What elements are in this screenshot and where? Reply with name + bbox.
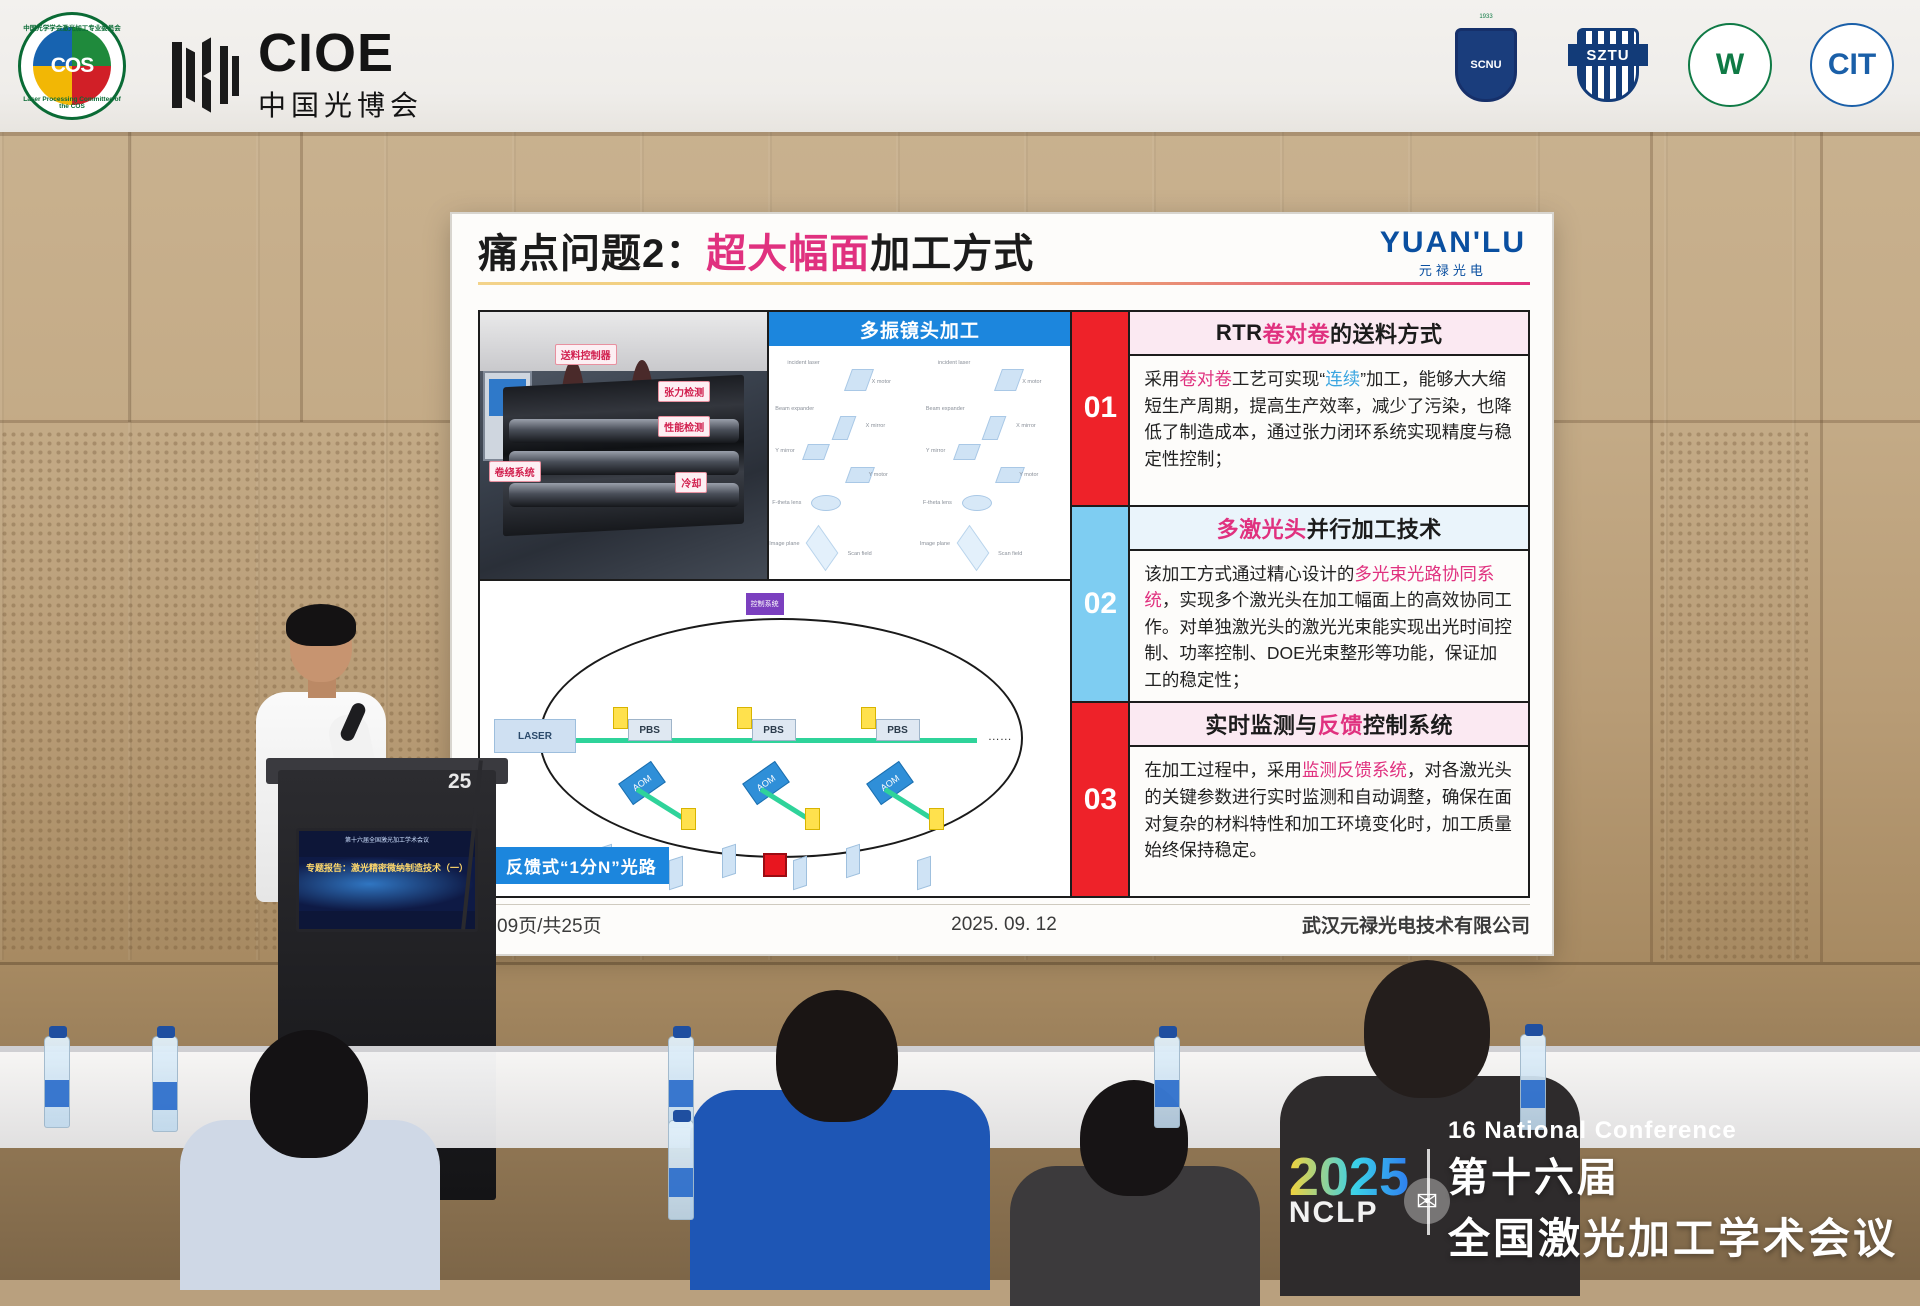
audience-member bbox=[690, 990, 990, 1280]
section-heading-03-highlight: 反馈 bbox=[1318, 708, 1363, 740]
photo-machine-top bbox=[480, 312, 767, 371]
bottle-cap bbox=[1159, 1026, 1177, 1038]
diagram-cube bbox=[831, 416, 856, 440]
diagram-label: Image plane bbox=[769, 541, 799, 547]
cos-ring-top-text: 中国光学学会激光加工专业委员会 bbox=[18, 22, 126, 32]
branch-waveplate bbox=[929, 808, 944, 830]
wall-seam bbox=[0, 132, 1920, 136]
watermark-year: 2025 bbox=[1289, 1153, 1409, 1203]
slide-title: 痛点问题2：超大幅面加工方式 bbox=[478, 232, 1530, 276]
logo-cit-short: CIT bbox=[1828, 48, 1876, 82]
waveplate-2 bbox=[737, 707, 752, 729]
cos-logo-text: COS bbox=[51, 54, 94, 78]
watermark-cn-line2: 全国激光加工学术会议 bbox=[1448, 1205, 1898, 1266]
photo-tag-cooling: 冷却 bbox=[675, 472, 707, 493]
slide-company: 武汉元禄光电技术有限公司 bbox=[1183, 911, 1530, 938]
section-heading-01: RTR卷对卷的送料方式 bbox=[1130, 312, 1528, 356]
section-heading-03: 实时监测与反馈控制系统 bbox=[1130, 703, 1528, 747]
logo-gim-glyph: W bbox=[1716, 48, 1744, 82]
section-text-02: 该加工方式通过精心设计的多光束光路协同系统，实现多个激光头在加工幅面上的高效协同… bbox=[1130, 551, 1528, 702]
watermark-logo-block: 2025 NCLP bbox=[1289, 1153, 1409, 1231]
machine-photo: 送料控制器 张力检测 性能检测 卷绕系统 冷却 bbox=[480, 312, 769, 579]
water-bottle bbox=[44, 1036, 70, 1128]
yuanlu-brand-cn: 元禄光电 bbox=[1380, 260, 1526, 279]
diagram-label: Y mirror bbox=[775, 448, 794, 454]
laser-source-box: LASER bbox=[494, 719, 576, 753]
cioe-mark-icon bbox=[172, 36, 244, 114]
section-row-01: 01 RTR卷对卷的送料方式 采用卷对卷工艺可实现“连续”加工，能够大大缩短生产… bbox=[1072, 312, 1528, 507]
logo-scnu: 1933 SCNU bbox=[1438, 12, 1534, 118]
section-body-01: RTR卷对卷的送料方式 采用卷对卷工艺可实现“连续”加工，能够大大缩短生产周期，… bbox=[1130, 312, 1528, 505]
diagram-label: Scan field bbox=[998, 551, 1022, 557]
section-heading-01-prefix: RTR bbox=[1216, 320, 1263, 346]
logo-scnu-year: 1933 bbox=[1438, 14, 1534, 20]
slide-title-highlight: 超大幅面 bbox=[706, 232, 870, 276]
section-number-01: 01 bbox=[1072, 312, 1130, 505]
slide-date: 2025. 09. 12 bbox=[825, 914, 1183, 936]
diagram-cube bbox=[982, 416, 1007, 440]
control-system-box: 控制系统 bbox=[746, 593, 784, 615]
cos-committee-logo: 中国光学学会激光加工专业委员会 COS Laser Processing Com… bbox=[18, 12, 126, 120]
scanner-diagram-canvas: incident laser Beam expander X motor X m… bbox=[769, 346, 1070, 579]
bottle-cap bbox=[1525, 1024, 1543, 1036]
diagram-lens bbox=[962, 495, 992, 511]
slide-footer: 第09页/共25页 2025. 09. 12 武汉元禄光电技术有限公司 bbox=[478, 904, 1530, 944]
audience-head bbox=[250, 1030, 368, 1158]
podium-monitor-header: 第十六届全国激光加工学术会议 bbox=[299, 835, 475, 844]
diagram-label: F-theta lens bbox=[772, 500, 801, 506]
water-bottle bbox=[668, 1120, 694, 1220]
diagram-cube bbox=[844, 369, 874, 391]
diagram-cube bbox=[953, 444, 981, 460]
cos-logo-mark: COS bbox=[33, 27, 111, 105]
section-row-03: 03 实时监测与反馈控制系统 在加工过程中，采用监测反馈系统，对各激光头的关键参… bbox=[1072, 703, 1528, 896]
pbs-3: PBS bbox=[876, 719, 920, 741]
audience-head bbox=[776, 990, 898, 1122]
watermark-text-block: 16 National Conference 第十六届 全国激光加工学术会议 bbox=[1448, 1117, 1898, 1266]
diagram-label: Image plane bbox=[920, 541, 950, 547]
section-number-03: 03 bbox=[1072, 703, 1130, 896]
photo-tag-winding: 卷绕系统 bbox=[489, 461, 541, 482]
section-body-03: 实时监测与反馈控制系统 在加工过程中，采用监测反馈系统，对各激光头的关键参数进行… bbox=[1130, 703, 1528, 896]
mirror bbox=[669, 856, 683, 891]
logo-cit-ring: CIT bbox=[1810, 23, 1894, 107]
pbs-1: PBS bbox=[628, 719, 672, 741]
bottle-label bbox=[1155, 1080, 1179, 1107]
diagram-cube bbox=[802, 444, 830, 460]
section-heading-03-prefix: 实时监测与 bbox=[1205, 708, 1318, 740]
slide-title-prefix: 痛点问题2： bbox=[478, 232, 706, 276]
watermark-cn-line1: 第十六届 bbox=[1448, 1145, 1898, 1203]
wall-seam bbox=[128, 132, 131, 422]
section-row-02: 02 多激光头并行加工技术 该加工方式通过精心设计的多光束光路协同系统，实现多个… bbox=[1072, 507, 1528, 704]
bottle-label bbox=[153, 1082, 177, 1110]
section-number-02: 02 bbox=[1072, 507, 1130, 702]
water-bottle bbox=[1520, 1034, 1546, 1130]
bottle-cap bbox=[49, 1026, 67, 1038]
logo-sztu-short: SZTU bbox=[1568, 44, 1648, 66]
section-heading-02-suffix: 并行加工技术 bbox=[1307, 512, 1442, 544]
water-bottle bbox=[152, 1036, 178, 1132]
logo-scnu-shield: SCNU bbox=[1455, 28, 1517, 102]
section-heading-01-suffix: 的送料方式 bbox=[1330, 317, 1443, 349]
podium-monitor: 第十六届全国激光加工学术会议 专题报告：激光精密微纳制造技术（一） bbox=[296, 828, 478, 932]
slide-title-suffix: 加工方式 bbox=[870, 232, 1034, 276]
mirror bbox=[793, 856, 807, 891]
podium-number: 25 bbox=[448, 770, 488, 800]
wall-seam bbox=[1650, 132, 1653, 962]
diagram-label: incident laser bbox=[938, 360, 970, 366]
diagram-label: Y mirror bbox=[926, 448, 945, 454]
diagram-label: X motor bbox=[872, 379, 891, 385]
bottle-label bbox=[1521, 1080, 1545, 1108]
branch-waveplate bbox=[681, 808, 696, 830]
university-logo-row: 1933 SCNU SZTU W CIT bbox=[1438, 12, 1900, 118]
diagram-label: Y motor bbox=[869, 472, 888, 478]
diagram-label: X mirror bbox=[866, 423, 886, 429]
cioe-name-cn: 中国光博会 bbox=[258, 84, 423, 124]
event-watermark: 2025 NCLP 16 National Conference 第十六届 全国… bbox=[1289, 1117, 1898, 1266]
bottle-cap bbox=[157, 1026, 175, 1038]
audience-member bbox=[180, 1030, 440, 1280]
diagram-label: F-theta lens bbox=[923, 500, 952, 506]
diagram-label: Scan field bbox=[848, 551, 872, 557]
logo-sztu: SZTU bbox=[1560, 12, 1656, 118]
diagram-label: Y motor bbox=[1019, 472, 1038, 478]
photo-tag-feed-controller: 送料控制器 bbox=[555, 344, 617, 365]
bottle-cap bbox=[673, 1110, 691, 1122]
logo-gim-ring: W bbox=[1688, 23, 1772, 107]
logo-gim: W bbox=[1682, 12, 1778, 118]
left-top-row: 送料控制器 张力检测 性能检测 卷绕系统 冷却 多振镜头加工 incident … bbox=[480, 312, 1070, 581]
top-banner: 中国光学学会激光加工专业委员会 COS Laser Processing Com… bbox=[0, 0, 1920, 132]
slide-body: 送料控制器 张力检测 性能检测 卷绕系统 冷却 多振镜头加工 incident … bbox=[478, 310, 1530, 898]
diagram-plane bbox=[806, 524, 839, 571]
photo-tag-tension: 张力检测 bbox=[658, 381, 710, 402]
wall-perforation bbox=[1658, 430, 1808, 960]
right-text-column: 01 RTR卷对卷的送料方式 采用卷对卷工艺可实现“连续”加工，能够大大缩短生产… bbox=[1072, 310, 1530, 898]
audience-member bbox=[1010, 1080, 1260, 1280]
bottle-label bbox=[669, 1168, 693, 1197]
bottle-cap bbox=[673, 1026, 691, 1038]
section-heading-02: 多激光头并行加工技术 bbox=[1130, 507, 1528, 551]
podium-monitor-title: 专题报告：激光精密微纳制造技术（一） bbox=[299, 861, 475, 874]
diagram-lens bbox=[811, 495, 841, 511]
yuanlu-brand-en: YUAN'LU bbox=[1380, 228, 1526, 258]
left-visual-column: 送料控制器 张力检测 性能检测 卷绕系统 冷却 多振镜头加工 incident … bbox=[478, 310, 1072, 898]
logo-cit: CIT bbox=[1804, 12, 1900, 118]
section-heading-03-suffix: 控制系统 bbox=[1363, 708, 1453, 740]
wall-seam bbox=[300, 132, 303, 422]
section-text-01: 采用卷对卷工艺可实现“连续”加工，能够大大缩短生产周期，提高生产效率，减少了污染… bbox=[1130, 356, 1528, 505]
detector-box bbox=[763, 853, 787, 877]
cioe-name-en: CIOE bbox=[258, 26, 423, 80]
diagram-plane bbox=[957, 524, 990, 571]
watermark-en-line: 16 National Conference bbox=[1448, 1117, 1898, 1145]
cioe-logo: CIOE 中国光博会 bbox=[172, 26, 423, 124]
slide: YUAN'LU 元禄光电 痛点问题2：超大幅面加工方式 bbox=[452, 214, 1552, 954]
pbs-2: PBS bbox=[752, 719, 796, 741]
speaker-hair bbox=[286, 604, 356, 646]
diagram-label: incident laser bbox=[787, 360, 819, 366]
mirror bbox=[722, 843, 736, 878]
cos-ring-bottom-text: Laser Processing Committee of the COS bbox=[18, 96, 126, 110]
scanner-diagram: 多振镜头加工 incident laser Beam expander X mo… bbox=[769, 312, 1070, 579]
section-heading-01-highlight: 卷对卷 bbox=[1263, 317, 1331, 349]
watermark-divider bbox=[1427, 1149, 1430, 1235]
branch-waveplate bbox=[805, 808, 820, 830]
water-bottle bbox=[1154, 1036, 1180, 1128]
slide-page-indicator: 第09页/共25页 bbox=[478, 911, 825, 938]
optical-path-caption: 反馈式“1分N”光路 bbox=[494, 847, 669, 884]
diagram-label: X mirror bbox=[1016, 423, 1036, 429]
scanner-diagram-header: 多振镜头加工 bbox=[769, 312, 1070, 346]
beam-continuation-dots: …… bbox=[988, 729, 1012, 743]
waveplate-3 bbox=[861, 707, 876, 729]
audience-head bbox=[1364, 960, 1490, 1098]
yuanlu-brand-logo: YUAN'LU 元禄光电 bbox=[1380, 228, 1526, 279]
section-heading-02-highlight: 多激光头 bbox=[1217, 512, 1307, 544]
projection-screen: YUAN'LU 元禄光电 痛点问题2：超大幅面加工方式 bbox=[452, 214, 1552, 954]
mirror bbox=[917, 856, 931, 891]
mirror bbox=[846, 843, 860, 878]
diagram-label: Beam expander bbox=[775, 406, 814, 412]
photo-tag-performance: 性能检测 bbox=[658, 416, 710, 437]
wall-seam bbox=[1820, 132, 1823, 962]
section-text-03: 在加工过程中，采用监测反馈系统，对各激光头的关键参数进行实时监测和自动调整，确保… bbox=[1130, 747, 1528, 896]
diagram-label: X motor bbox=[1022, 379, 1041, 385]
title-underline bbox=[478, 282, 1530, 285]
optical-path-diagram: 控制系统 LASER PBS PBS PBS …… AOM AOM AOM bbox=[480, 581, 1070, 896]
bottle-label bbox=[669, 1080, 693, 1107]
optical-path-canvas: 控制系统 LASER PBS PBS PBS …… AOM AOM AOM bbox=[480, 581, 1070, 896]
bottle-label bbox=[45, 1080, 69, 1107]
waveplate-1 bbox=[613, 707, 628, 729]
diagram-label: Beam expander bbox=[926, 406, 965, 412]
section-body-02: 多激光头并行加工技术 该加工方式通过精心设计的多光束光路协同系统，实现多个激光头… bbox=[1130, 507, 1528, 702]
logo-scnu-short: SCNU bbox=[1470, 59, 1501, 71]
diagram-cube bbox=[994, 369, 1024, 391]
